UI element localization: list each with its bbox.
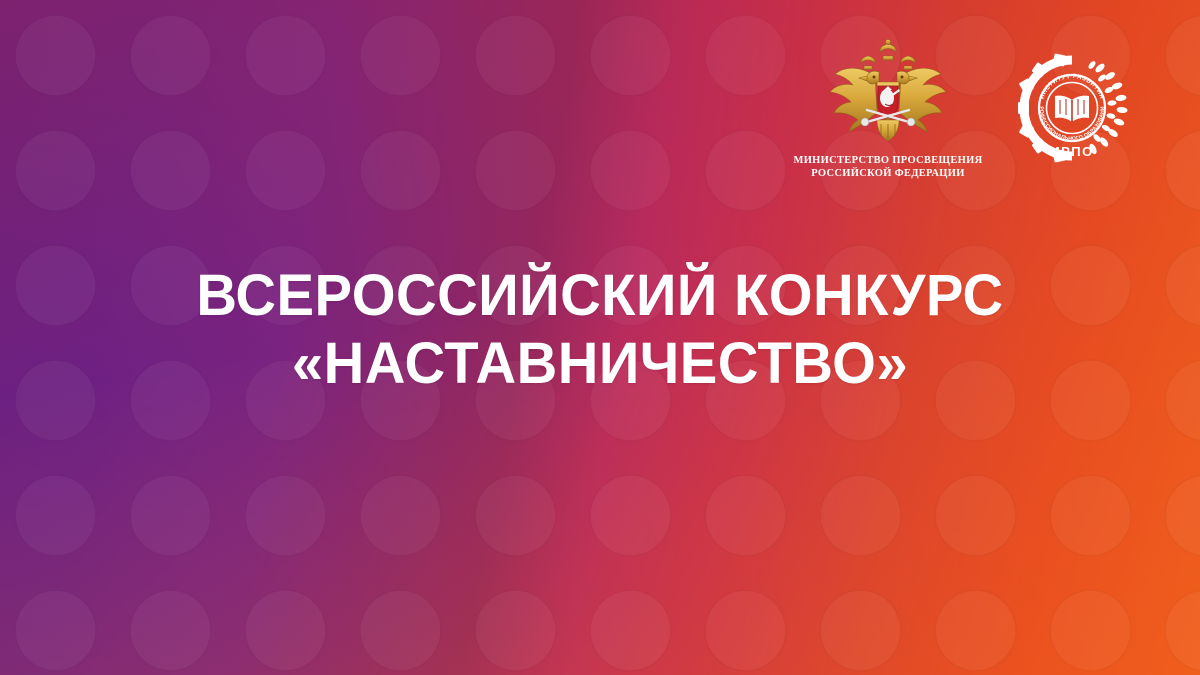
svg-text:ИНСТИТУТ РАЗВИТИЯ: ИНСТИТУТ РАЗВИТИЯ bbox=[1039, 73, 1106, 100]
irpo-logo: ИНСТИТУТ РАЗВИТИЯ ПРОФЕССИОНАЛЬНОГО ОБРА… bbox=[1016, 52, 1128, 164]
title-line-2: «НАСТАВНИЧЕСТВО» bbox=[18, 330, 1182, 398]
title-slide: МИНИСТЕРСТВО ПРОСВЕЩЕНИЯ РОССИЙСКОЙ ФЕДЕ… bbox=[0, 0, 1200, 675]
logo-row: МИНИСТЕРСТВО ПРОСВЕЩЕНИЯ РОССИЙСКОЙ ФЕДЕ… bbox=[788, 36, 1128, 180]
irpo-gear-laurel-book-icon: ИНСТИТУТ РАЗВИТИЯ ПРОФЕССИОНАЛЬНОГО ОБРА… bbox=[1016, 52, 1128, 164]
open-book-icon bbox=[1055, 96, 1089, 122]
russian-double-headed-eagle-icon bbox=[827, 36, 949, 148]
page-title: ВСЕРОССИЙСКИЙ КОНКУРС «НАСТАВНИЧЕСТВО» bbox=[0, 262, 1200, 398]
irpo-abbreviation: ИРПО bbox=[1050, 144, 1093, 159]
ministry-caption-line1: МИНИСТЕРСТВО ПРОСВЕЩЕНИЯ bbox=[794, 154, 983, 167]
title-line-1: ВСЕРОССИЙСКИЙ КОНКУРС bbox=[18, 262, 1182, 330]
ministry-caption-line2: РОССИЙСКОЙ ФЕДЕРАЦИИ bbox=[811, 167, 964, 180]
ministry-logo: МИНИСТЕРСТВО ПРОСВЕЩЕНИЯ РОССИЙСКОЙ ФЕДЕ… bbox=[788, 36, 988, 180]
